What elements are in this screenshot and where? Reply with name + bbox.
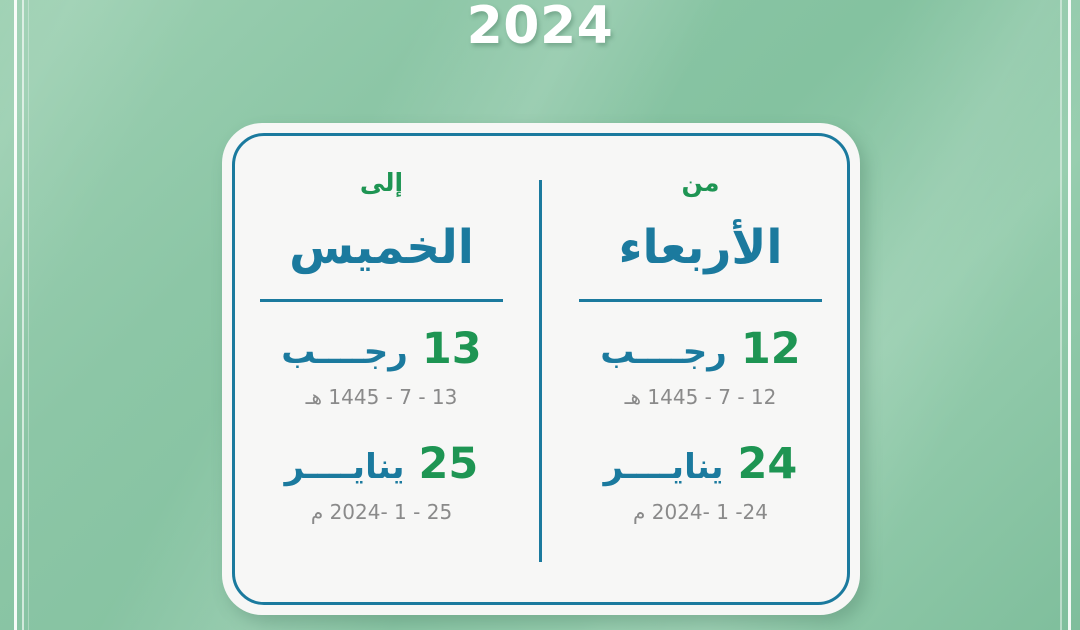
column-from-gregorian-month: ينايــــر — [604, 450, 724, 484]
column-to-hijri-main: 13 رجــــب — [222, 328, 541, 371]
light-streak-left-3 — [28, 0, 29, 630]
column-from-gregorian-full: 24- 1 -2024 م — [541, 500, 860, 524]
light-streak-left-2 — [22, 0, 24, 630]
light-streak-right-1 — [1068, 0, 1071, 630]
column-from-hijri-month: رجــــب — [600, 335, 727, 369]
column-from-gregorian-main: 24 ينايــــر — [541, 443, 860, 486]
column-to-weekday: الخميس — [222, 219, 541, 278]
column-from-divider — [579, 299, 822, 302]
column-to-gregorian-main: 25 ينايــــر — [222, 443, 541, 486]
column-to-divider — [260, 299, 503, 302]
column-to: إلى الخميس 13 رجــــب 13 - 7 - 1445 هـ 2… — [222, 123, 541, 615]
column-to-gregorian-full: 25 - 1 -2024 م — [222, 500, 541, 524]
column-from-gregorian-day: 24 — [738, 443, 798, 486]
date-range-card: من الأربعاء 12 رجــــب 12 - 7 - 1445 هـ … — [222, 123, 860, 615]
column-to-hijri-day: 13 — [422, 328, 482, 371]
column-from-hijri-full: 12 - 7 - 1445 هـ — [541, 385, 860, 409]
column-from-range-label: من — [541, 169, 860, 197]
column-from-gregorian-date: 24 ينايــــر 24- 1 -2024 م — [541, 443, 860, 524]
column-to-gregorian-day: 25 — [419, 443, 479, 486]
column-to-range-label: إلى — [222, 169, 541, 197]
column-to-hijri-date: 13 رجــــب 13 - 7 - 1445 هـ — [222, 328, 541, 409]
light-streak-right-2 — [1060, 0, 1062, 630]
column-from: من الأربعاء 12 رجــــب 12 - 7 - 1445 هـ … — [541, 123, 860, 615]
page-background: 2024 من الأربعاء 12 رجــــب 12 - 7 - 144… — [0, 0, 1080, 630]
column-from-weekday: الأربعاء — [541, 219, 860, 278]
column-to-gregorian-date: 25 ينايــــر 25 - 1 -2024 م — [222, 443, 541, 524]
column-to-hijri-full: 13 - 7 - 1445 هـ — [222, 385, 541, 409]
column-from-hijri-main: 12 رجــــب — [541, 328, 860, 371]
page-title-year: 2024 — [0, 0, 1080, 56]
column-from-hijri-date: 12 رجــــب 12 - 7 - 1445 هـ — [541, 328, 860, 409]
column-vertical-divider — [539, 180, 542, 562]
column-from-hijri-day: 12 — [741, 328, 801, 371]
light-streak-left-1 — [14, 0, 17, 630]
column-to-hijri-month: رجــــب — [281, 335, 408, 369]
column-to-gregorian-month: ينايــــر — [285, 450, 405, 484]
